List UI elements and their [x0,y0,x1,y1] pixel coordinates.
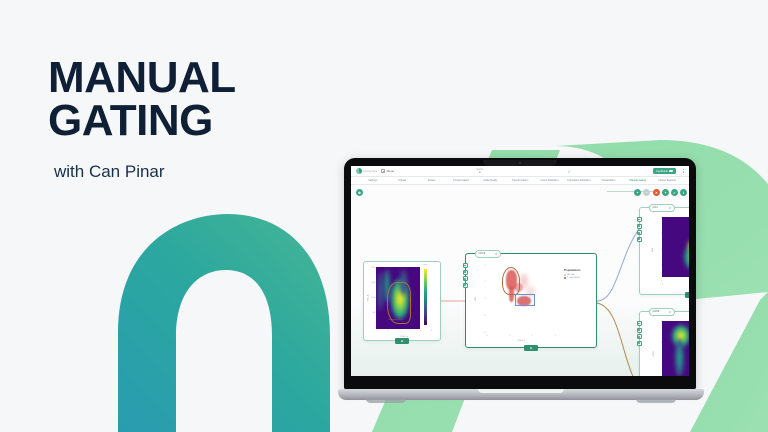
menu-button[interactable]: Menu [381,169,394,173]
kebab-menu-icon[interactable] [683,169,684,173]
density-plot-tcells[interactable]: 4 3 2 1 0 CD8 [662,217,689,283]
gate-node-root-density[interactable]: 2000 1500 1000 500 0 FSC-A [363,261,441,341]
node-handle[interactable] [637,334,642,339]
toolbar-connector-line [607,191,659,192]
chevron-down-icon: ⇵ [495,252,498,256]
add-gate-button[interactable]: + [662,189,669,196]
x-axis-label-scatter: CD19 ▾ [517,339,525,342]
scatter-canvas [486,264,556,328]
x-tick: 2 [409,330,410,333]
chevron-down-icon: ⇵ [669,206,672,210]
node-handle[interactable] [637,237,642,242]
y-axis-label-root: FSC-A [367,295,369,302]
laptop-base [338,389,704,400]
x-axis-ticks-tcells: 0 2 4 [662,284,689,287]
node-handle[interactable] [637,321,642,326]
x-axis-ticks-root: -1 0 1 2 3 4 [376,330,432,333]
app-topbar: cytolytics Menu Status 2 ✓ Feedback [351,166,689,177]
scatter-plot-populations[interactable]: 4 2 0 -2 -4 CD3 [486,264,556,334]
y-axis-ticks-root: 2000 1500 1000 500 0 [370,267,376,329]
feedback-button[interactable]: Feedback [653,168,676,174]
y-axis-label-tcells: CD8 [652,248,654,252]
workflow-tabbar: ‹ Settings Upload Panels Compensation Da… [351,177,689,185]
gate-label-root: Leukocytes 94.2% [388,319,403,321]
logo-text: cytolytics [363,169,377,173]
gate-node-scatter-populations[interactable]: CD19 ⇵ 4 2 [465,253,597,348]
tab-panels[interactable]: Panels [417,179,446,182]
zoom-out-button[interactable]: − [643,189,650,196]
marker-dropdown-bcells[interactable]: CD56 ⇵ [649,308,675,316]
tab-compensation[interactable]: Compensation [446,179,475,182]
y-tick: 1000 [371,297,375,299]
tab-manual-gating[interactable]: Manual Gating [623,179,652,182]
y-axis-ticks-scatter: 4 2 0 -2 -4 [480,264,486,334]
y-tick: 1500 [371,282,375,284]
tab-visualization[interactable]: Visualization [594,179,623,182]
tab-data-quality[interactable]: Data Quality [476,179,505,182]
delete-gate-button[interactable]: ✕ [653,189,660,196]
density-heatmap-tcells [662,217,689,277]
dropdown-value: CD4 [653,206,658,209]
page-subtitle: with Can Pinar [54,162,236,182]
tab-settings[interactable]: Settings [358,179,387,182]
x-tick: 4 [431,330,432,333]
node-handle[interactable] [463,270,468,275]
marker-dropdown-tcells[interactable]: CD4 ⇵ [649,204,675,212]
density-plot-root[interactable]: 2000 1500 1000 500 0 FSC-A [376,267,432,329]
density-plot-bcells[interactable]: 3 2 1 0 CD16 0 [662,321,689,376]
legend-title: Populations [564,268,581,272]
x-tick: 0 [662,284,663,287]
hamburger-icon [381,169,385,173]
node-handle[interactable] [637,230,642,235]
y-axis-label-scatter: CD3 [475,297,477,301]
toggle-switch-icon [669,170,673,172]
node-handles-bcells[interactable] [637,321,642,346]
legend-swatch-icon [564,274,566,276]
node-footer-add-tcells[interactable]: ⊕ [685,292,689,298]
populations-legend: Populations All Cells T Cells 68.1% [564,268,581,280]
colorbar-label-root: count [423,264,427,266]
logo-mark-icon [356,168,362,174]
tab-transformation[interactable]: Transformation [505,179,534,182]
chevron-down-icon: ⇵ [669,310,672,314]
title-line-2: GATING [48,99,236,142]
node-handle[interactable] [637,328,642,333]
legend-swatch-icon [564,277,566,279]
legend-label: T Cells 68.1% [567,277,580,279]
zoom-in-button[interactable]: + [634,189,641,196]
laptop-foot-right [636,399,676,403]
y-tick: 2000 [371,267,375,269]
legend-item[interactable]: All Cells [564,274,581,276]
gating-canvas[interactable]: ⊕ + − ✕ + ✓ i [351,185,689,376]
y-axis-label-bcells: CD16 [653,351,655,357]
node-handles-scatter[interactable] [463,263,468,288]
x-tick: 2 [532,335,533,338]
x-tick: -1 [376,330,378,333]
tab-next-arrow[interactable]: › [682,179,685,183]
polygon-gate-root[interactable] [387,282,411,324]
check-icon: ✓ [568,169,571,174]
dropdown-value: CD56 [653,310,660,313]
headline-block: MANUAL GATING with Can Pinar [48,56,236,182]
legend-label: All Cells [567,274,575,276]
marker-dropdown-scatter[interactable]: CD19 ⇵ [475,250,501,258]
tab-upload[interactable]: Upload [387,179,416,182]
node-handle[interactable] [463,263,468,268]
colorbar-root [424,269,427,325]
title-line-1: MANUAL [48,53,236,102]
laptop-screen: cytolytics Menu Status 2 ✓ Feedback [351,166,689,376]
node-handle[interactable] [463,283,468,288]
application-window: cytolytics Menu Status 2 ✓ Feedback [351,166,689,376]
feedback-label: Feedback [656,170,667,173]
node-handle[interactable] [637,217,642,222]
status-indicator: Status 2 [477,168,484,174]
node-handle[interactable] [637,341,642,346]
save-layout-button[interactable]: ✓ [671,189,678,196]
x-tick: 3 [420,330,421,333]
tab-cluster-explorer[interactable]: Cluster Explorer [653,179,682,182]
x-tick: 1 [398,330,399,333]
node-handle[interactable] [463,276,468,281]
x-tick: 0 [509,335,510,338]
x-tick: -2 [486,335,488,338]
node-footer-add-root[interactable]: ⊕ [395,338,409,344]
node-handle[interactable] [637,224,642,229]
legend-item[interactable]: T Cells 68.1% [564,277,581,279]
density-heatmap-bcells [662,321,689,376]
status-value: 2 [477,171,484,174]
polygon-gate-tcells[interactable] [502,267,520,295]
laptop-mockup: cytolytics Menu Status 2 ✓ Feedback [338,158,704,400]
x-tick: 4 [555,335,556,338]
x-tick: 0 [387,330,388,333]
node-handles-tcells[interactable] [637,217,642,242]
tab-count-definition[interactable]: Count Definition [535,179,564,182]
gate-node-bcells-density[interactable]: CD56 ⇵ 3 2 [639,311,689,376]
node-footer-add-scatter[interactable]: ⊕ [524,345,538,351]
rectangle-gate-bcells[interactable] [515,294,535,306]
dropdown-value: CD19 [479,252,486,255]
laptop-foot-left [366,399,406,403]
page-title: MANUAL GATING [48,56,236,142]
x-axis-ticks-scatter: -2 0 2 4 [486,335,556,338]
app-logo: cytolytics [356,168,377,174]
help-button[interactable]: i [680,189,687,196]
tab-population-definition[interactable]: Population Definition [564,179,593,182]
canvas-add-node-button[interactable]: ⊕ [356,189,363,196]
menu-label: Menu [387,169,395,173]
gate-node-tcells-density[interactable]: CD4 ⇵ ✓ 4 3 [639,207,689,295]
camera-icon [519,162,521,164]
laptop-lid: cytolytics Menu Status 2 ✓ Feedback [344,158,696,390]
chevron-down-icon[interactable]: ▾ [524,339,525,342]
